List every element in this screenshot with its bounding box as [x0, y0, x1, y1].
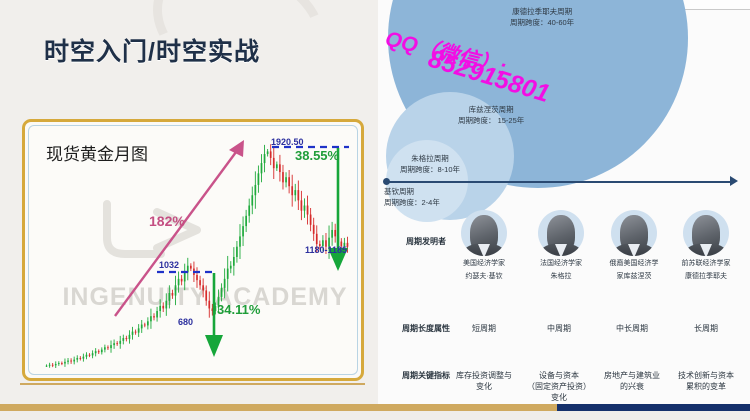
row-label-inventor: 周期发明者	[406, 236, 446, 247]
key-indicator-long-l2: 累积的变革	[670, 381, 742, 392]
footer-fill	[0, 411, 750, 420]
cycle-infographic-panel: 康德拉季耶夫周期 周期跨度：40-60年 库兹涅茨周期 周期跨度： 15-25年…	[378, 0, 750, 404]
inventor-name-line1: 法国经济学家	[533, 259, 589, 269]
key-indicator-long: 技术创新与资本 累积的变革	[670, 370, 742, 392]
length-attr-short: 短周期	[448, 323, 520, 334]
key-indicator-medium-l3: 变化	[523, 392, 595, 403]
left-slide-panel: 时空入门/时空实战 现货黄金月图 INGENUITY ACADEMY	[0, 0, 378, 404]
label-kitchin-span: 周期跨度：2-4年	[384, 197, 440, 208]
key-indicator-medium-l1: 设备与资本	[523, 370, 595, 381]
gold-chart-plot: 现货黄金月图 INGENUITY ACADEMY	[28, 125, 358, 375]
key-indicator-short-l1: 库存投资调整与	[448, 370, 520, 381]
avatar	[461, 210, 507, 256]
footer-navy-strip	[557, 404, 750, 411]
row-label-indicator: 周期关键指标	[402, 370, 450, 381]
inventor-kitchin: 美国经济学家 约瑟夫·基钦	[456, 210, 512, 282]
label-juglar-name: 朱格拉周期	[400, 153, 460, 164]
label-kitchin: 基钦周期 周期跨度：2-4年	[384, 186, 440, 208]
length-attr-medlong: 中长周期	[596, 323, 668, 334]
footer-gold-strip	[0, 404, 557, 411]
inventor-name-line1: 前苏联经济学家	[678, 259, 734, 269]
inventor-kondratiev: 前苏联经济学家 康德拉季耶夫	[678, 210, 734, 282]
length-attr-medium: 中周期	[523, 323, 595, 334]
avatar	[538, 210, 584, 256]
inventor-name-line1: 俄裔美国经济学	[606, 259, 662, 269]
avatar	[683, 210, 729, 256]
key-indicator-medlong-l1: 房地产与建筑业	[596, 370, 668, 381]
slide-canvas: 时空入门/时空实战 现货黄金月图 INGENUITY ACADEMY	[0, 0, 750, 420]
row-label-length: 周期长度属性	[402, 323, 450, 334]
label-kondratiev-name: 康德拉季耶夫周期	[510, 6, 574, 17]
annotation-3855-percent: 38.55%	[295, 148, 339, 163]
timeline-axis	[386, 181, 734, 183]
label-kuznets-name: 库兹涅茨周期	[458, 104, 524, 115]
key-indicator-medium-l2: （固定资产投资）	[523, 381, 595, 392]
axis-arrow-icon	[730, 176, 738, 186]
avatar	[611, 210, 657, 256]
annotation-level-680: 680	[178, 317, 193, 327]
left-divider-rule	[20, 383, 365, 385]
annotation-182-percent: 182%	[149, 213, 185, 229]
annotation-level-1032: 1032	[159, 260, 179, 270]
key-indicator-medlong: 房地产与建筑业 的兴衰	[596, 370, 668, 392]
key-indicator-short-l2: 变化	[448, 381, 520, 392]
key-indicator-medlong-l2: 的兴衰	[596, 381, 668, 392]
label-kondratiev: 康德拉季耶夫周期 周期跨度：40-60年	[510, 6, 574, 28]
label-juglar: 朱格拉周期 周期跨度：8-10年	[400, 153, 460, 175]
gold-chart-card: 现货黄金月图 INGENUITY ACADEMY	[22, 119, 364, 381]
inventor-name-line2: 康德拉季耶夫	[678, 272, 734, 282]
label-kuznets-span: 周期跨度： 15-25年	[458, 115, 524, 126]
annotation-3411-percent: 34.11%	[217, 302, 260, 317]
page-title: 时空入门/时空实战	[44, 32, 260, 68]
annotation-zone-1180-1185: 1180-1185	[305, 245, 347, 255]
length-attr-long: 长周期	[670, 323, 742, 334]
label-kuznets: 库兹涅茨周期 周期跨度： 15-25年	[458, 104, 524, 126]
label-juglar-span: 周期跨度：8-10年	[400, 164, 460, 175]
key-indicator-medium: 设备与资本 （固定资产投资） 变化	[523, 370, 595, 403]
annotation-level-1920: 1920.50	[271, 137, 304, 147]
key-indicator-long-l1: 技术创新与资本	[670, 370, 742, 381]
inventor-kuznets: 俄裔美国经济学 家库兹涅茨	[606, 210, 662, 282]
label-kondratiev-span: 周期跨度：40-60年	[510, 17, 574, 28]
inventor-name-line1: 美国经济学家	[456, 259, 512, 269]
inventor-name-line2: 朱格拉	[533, 272, 589, 282]
inventor-juglar: 法国经济学家 朱格拉	[533, 210, 589, 282]
key-indicator-short: 库存投资调整与 变化	[448, 370, 520, 392]
inventor-name-line2: 约瑟夫·基钦	[456, 272, 512, 282]
label-kitchin-name: 基钦周期	[384, 186, 440, 197]
inventor-name-line2: 家库兹涅茨	[606, 272, 662, 282]
